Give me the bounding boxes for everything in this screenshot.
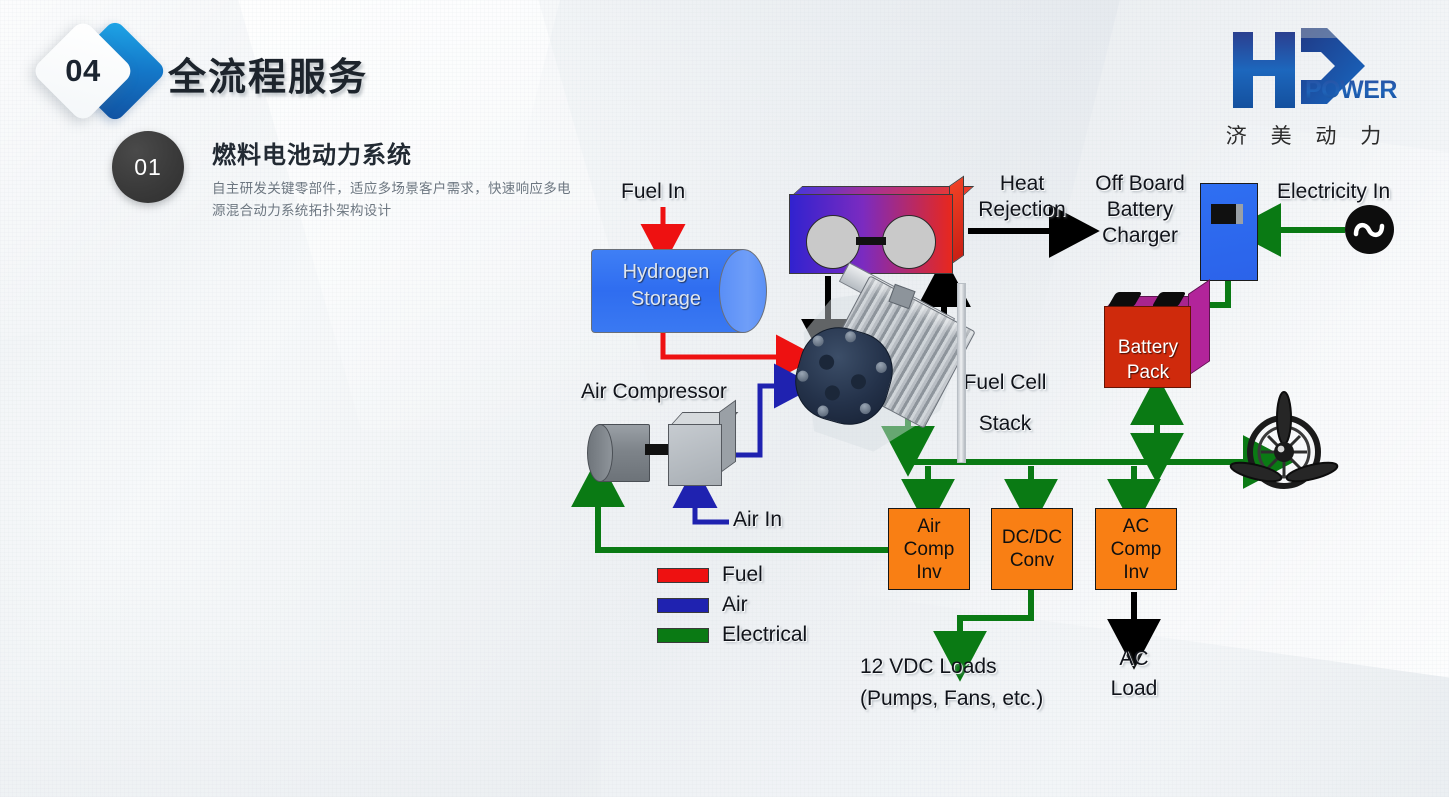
label-air-in: Air In: [733, 507, 782, 533]
stack-bolt: [844, 330, 858, 344]
label-electricity-in: Electricity In: [1277, 179, 1390, 205]
fuel-cell-stack[interactable]: [793, 285, 968, 455]
air-comp-inverter-box[interactable]: Air Comp Inv: [888, 508, 970, 590]
legend-item-electrical: Electrical: [657, 620, 807, 650]
label-ac-load-line2: Load: [1090, 676, 1178, 702]
heat-exchanger-face: [789, 194, 953, 274]
tank-label: Hydrogen Storage: [595, 259, 737, 313]
off-board-battery-charger[interactable]: [1200, 183, 1258, 281]
label-charger-line3: Charger: [1078, 223, 1202, 249]
compressor-face: [668, 424, 722, 486]
label-heat-rejection-line1: Heat: [968, 171, 1076, 197]
stack-bolt: [859, 402, 873, 416]
legend-swatch-fuel: [657, 568, 709, 583]
label-dc-loads-line1: 12 VDC Loads: [860, 654, 997, 680]
propeller-motor-icon: [1228, 390, 1340, 502]
dcdc-converter-box[interactable]: DC/DC Conv: [991, 508, 1073, 590]
stack-bolt: [874, 361, 888, 375]
stack-bolt: [816, 404, 830, 418]
label-fuel-in: Fuel In: [621, 179, 685, 205]
legend-swatch-air: [657, 598, 709, 613]
diagram-legend: Fuel Air Electrical: [657, 560, 807, 650]
stack-bolt: [796, 369, 810, 383]
stack-bolt: [811, 334, 825, 348]
hydrogen-storage-tank[interactable]: Hydrogen Storage: [591, 249, 766, 331]
stack-port: [849, 372, 868, 391]
legend-swatch-electrical: [657, 628, 709, 643]
battery-face: Battery Pack: [1104, 306, 1191, 388]
stack-port: [817, 353, 836, 372]
heat-exchanger[interactable]: [789, 186, 967, 273]
fuel-cell-system-diagram: Fuel In Heat Rejection Off Board Battery…: [0, 0, 1449, 797]
tank-label-line2: Storage: [595, 286, 737, 313]
battery-side: [1188, 279, 1210, 376]
radiator-fan-right-icon: [882, 215, 936, 269]
legend-label-air: Air: [722, 593, 748, 617]
legend-label-electrical: Electrical: [722, 623, 807, 647]
legend-item-air: Air: [657, 590, 807, 620]
legend-label-fuel: Fuel: [722, 563, 763, 587]
label-ac-load-line1: AC: [1090, 646, 1178, 672]
legend-item-fuel: Fuel: [657, 560, 807, 590]
radiator-fan-left-icon: [806, 215, 860, 269]
battery-label-line1: Battery: [1105, 335, 1191, 360]
ac-source-icon: [1345, 205, 1394, 254]
label-heat-rejection-line2: Rejection: [962, 197, 1082, 223]
ac-comp-inverter-box[interactable]: AC Comp Inv: [1095, 508, 1177, 590]
battery-pack[interactable]: Battery Pack: [1104, 292, 1212, 398]
label-charger-line1: Off Board: [1078, 171, 1202, 197]
label-dc-loads-line2: (Pumps, Fans, etc.): [860, 686, 1043, 712]
stack-port: [823, 384, 842, 403]
motor-endcap: [587, 424, 613, 482]
air-compressor-unit[interactable]: [668, 412, 734, 484]
radiator-fan-link: [856, 237, 886, 245]
air-compressor-motor[interactable]: [587, 424, 649, 480]
label-charger-line2: Battery: [1078, 197, 1202, 223]
battery-label: Battery Pack: [1105, 335, 1191, 385]
slide-root: 04 全流程服务 01 燃料电池动力系统 自主研发关键零部件，适应多场景客户需求…: [0, 0, 1449, 797]
battery-label-line2: Pack: [1105, 360, 1191, 385]
tank-label-line1: Hydrogen: [595, 259, 737, 286]
plug-icon: [1211, 204, 1243, 224]
vertical-divider-rod: [957, 283, 966, 463]
label-air-compressor: Air Compressor: [581, 379, 727, 405]
